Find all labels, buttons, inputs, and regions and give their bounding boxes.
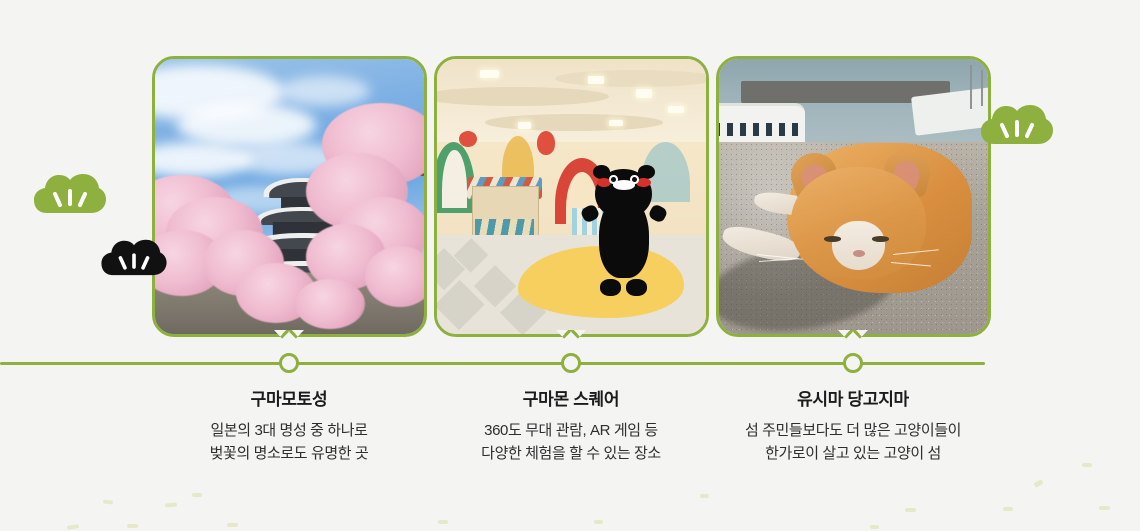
photo-card-kumamon-square[interactable] [434, 56, 709, 337]
caption-line-2: 다양한 체험을 할 수 있는 장소 [411, 442, 731, 465]
photo-cat-island [719, 59, 988, 334]
timeline-node-2[interactable] [561, 353, 581, 373]
travel-timeline-section: 구마모토성 일본의 3대 명성 중 하나로 벚꽃의 명소로도 유명한 곳 구마몬… [0, 0, 1140, 531]
timeline-track [0, 362, 985, 365]
kumamon-mascot [593, 169, 655, 293]
card-pointer-3 [838, 330, 868, 346]
photo-card-yushima-dangojima[interactable] [716, 56, 991, 337]
caption-title: 구마모토성 [129, 391, 449, 410]
caption-line-2: 한가로이 살고 있는 고양이 섬 [693, 442, 1013, 465]
caption-kumamoto-castle: 구마모토성 일본의 3대 명성 중 하나로 벚꽃의 명소로도 유명한 곳 [129, 391, 449, 465]
timeline-node-3[interactable] [843, 353, 863, 373]
caption-line-2: 벚꽃의 명소로도 유명한 곳 [129, 442, 449, 465]
caption-line-1: 일본의 3대 명성 중 하나로 [129, 419, 449, 442]
photo-kumamoto-castle [155, 59, 424, 334]
card-pointer-2 [556, 330, 586, 346]
photo-card-kumamoto-castle[interactable] [152, 56, 427, 337]
timeline-node-1[interactable] [279, 353, 299, 373]
caption-title: 유시마 당고지마 [693, 391, 1013, 410]
card-pointer-1 [274, 330, 304, 346]
caption-yushima-dangojima: 유시마 당고지마 섬 주민들보다도 더 많은 고양이들이 한가로이 살고 있는 … [693, 391, 1013, 465]
cat-subject [741, 136, 972, 307]
photo-kumamon-square [437, 59, 706, 334]
caption-line-1: 섬 주민들보다도 더 많은 고양이들이 [693, 419, 1013, 442]
bush-green-right-icon [981, 103, 1053, 145]
bush-green-left-icon [34, 172, 106, 214]
caption-title: 구마몬 스퀘어 [411, 391, 731, 410]
caption-line-1: 360도 무대 관람, AR 게임 등 [411, 419, 731, 442]
caption-kumamon-square: 구마몬 스퀘어 360도 무대 관람, AR 게임 등 다양한 체험을 할 수 … [411, 391, 731, 465]
bush-black-left-icon [101, 238, 167, 276]
